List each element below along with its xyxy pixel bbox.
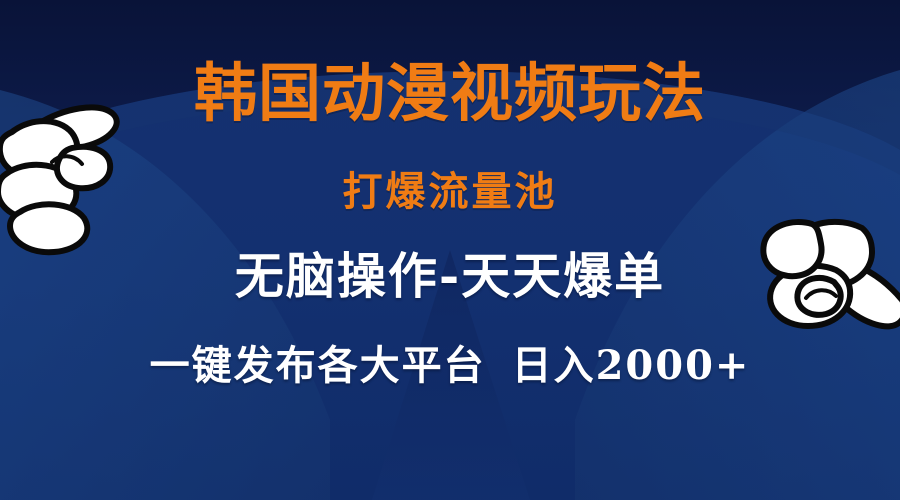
banner-publish-text: 一键发布各大平台 — [150, 342, 486, 389]
banner-feature-text: 无脑操作-天天爆单 — [0, 252, 900, 301]
banner-bottom-row: 一键发布各大平台日入2000+ — [0, 346, 900, 386]
banner-title: 韩国动漫视频玩法 — [0, 62, 900, 125]
headline-group: 韩国动漫视频玩法 打爆流量池 无脑操作-天天爆单 一键发布各大平台日入2000+ — [0, 0, 900, 500]
banner-subtitle: 打爆流量池 — [0, 172, 900, 212]
promo-banner: 韩国动漫视频玩法 打爆流量池 无脑操作-天天爆单 一键发布各大平台日入2000+ — [0, 0, 900, 500]
banner-income-text: 日入2000+ — [512, 342, 751, 389]
